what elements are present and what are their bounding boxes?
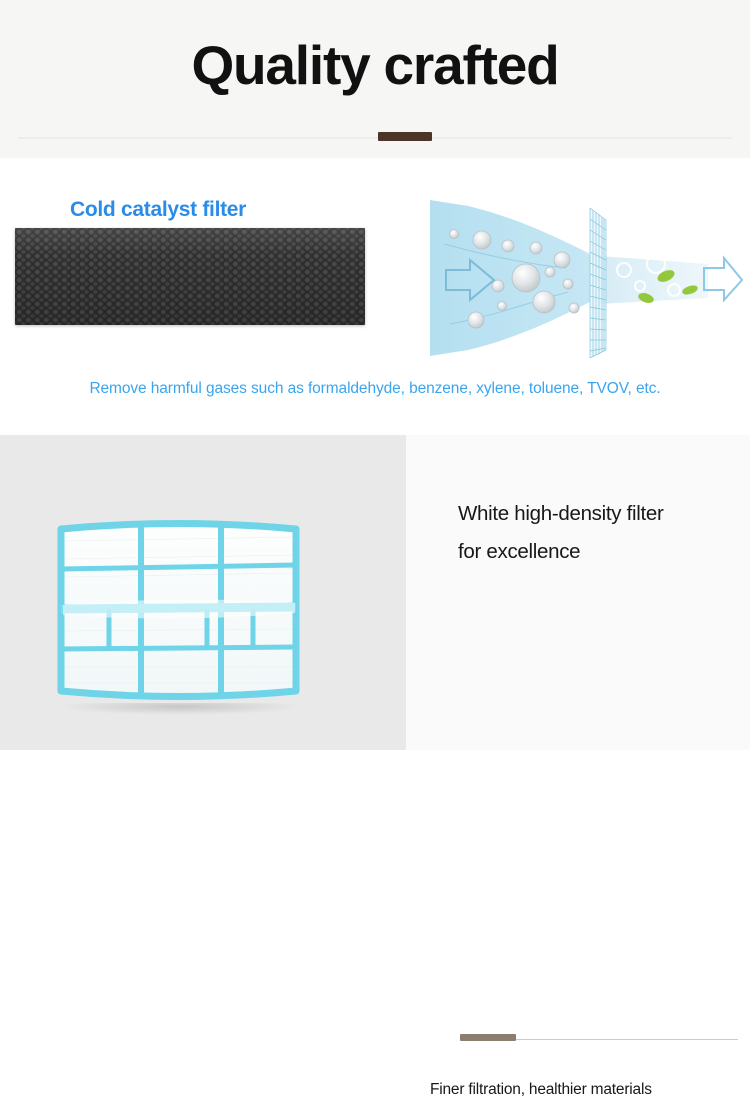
- airflow-filtration-diagram: [408, 198, 744, 358]
- white-filter-photo-panel: [0, 435, 406, 750]
- cold-catalyst-caption: Remove harmful gases such as formaldehyd…: [0, 380, 750, 398]
- photo-sheen-overlay: [15, 228, 365, 325]
- white-high-density-filter: [55, 513, 302, 703]
- header-band: Quality crafted: [0, 0, 750, 158]
- white-filter-heading-line2: for excellence: [458, 533, 738, 571]
- outlet-arrow-icon: [704, 258, 742, 300]
- header-divider-line: [18, 137, 732, 139]
- product-infographic: Quality crafted Cold catalyst filter: [0, 0, 750, 750]
- white-filter-caption: Finer filtration, healthier materials: [430, 1081, 652, 1099]
- white-filter-heading-line1: White high-density filter: [458, 495, 738, 533]
- dirty-airflow-shape: [430, 200, 590, 356]
- section-white-filter: White high-density filter for excellence…: [0, 435, 750, 750]
- filter-mesh-panel: [590, 208, 606, 358]
- header-accent-bar: [378, 132, 432, 141]
- cold-catalyst-heading: Cold catalyst filter: [70, 198, 246, 222]
- page-title: Quality crafted: [0, 34, 750, 96]
- section-cold-catalyst: Cold catalyst filter: [0, 158, 750, 435]
- white-filter-heading: White high-density filter for excellence: [458, 495, 738, 571]
- cold-catalyst-filter-photo: [15, 228, 365, 325]
- clean-airflow-shape: [600, 256, 708, 304]
- filter-drop-shadow: [60, 703, 300, 715]
- white-filter-accent-bar: [460, 1034, 516, 1041]
